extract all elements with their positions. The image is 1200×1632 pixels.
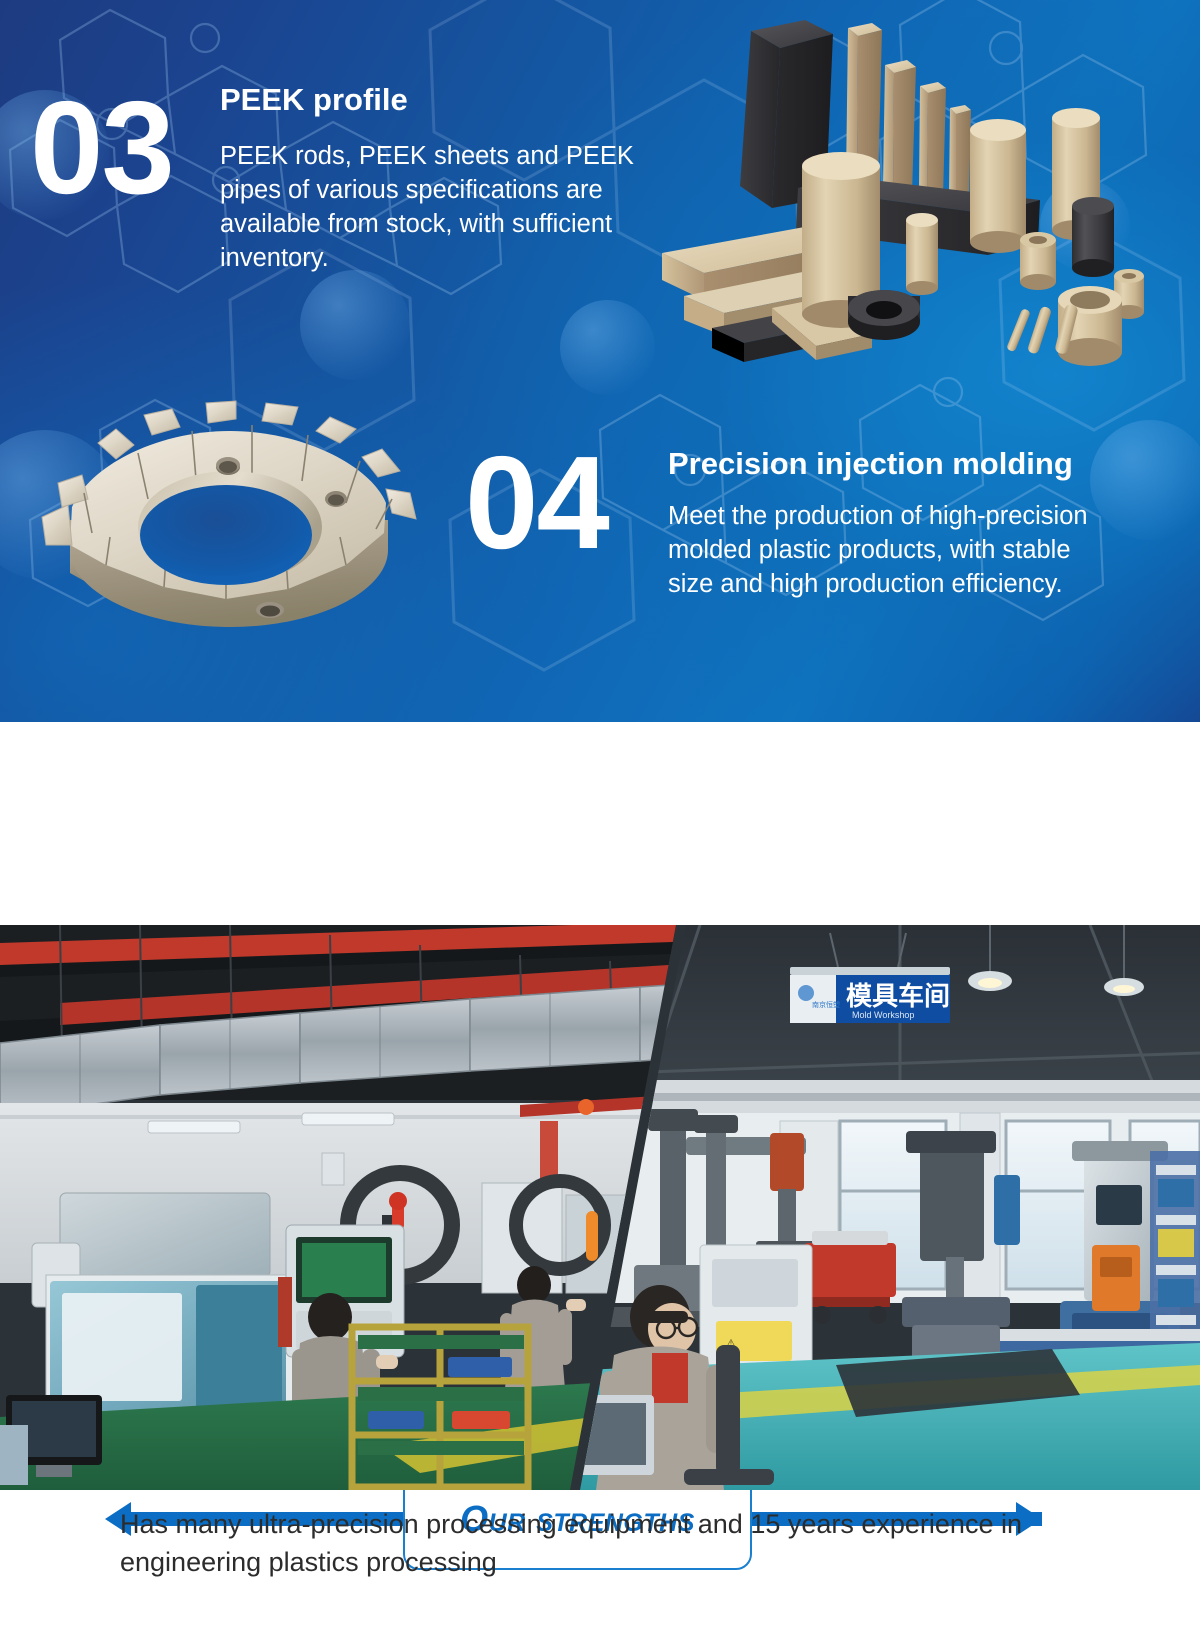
peek-profile-products-photo <box>620 8 1190 368</box>
peek-beige-square-rod-3 <box>919 82 946 197</box>
section-number-03: 03 <box>30 82 173 214</box>
factory-photo-strip: 南京恒塑 模具车间 Mold Workshop <box>0 925 1200 1490</box>
red-tool-cart <box>804 1231 896 1324</box>
peek-beige-square-rod-2 <box>883 60 916 193</box>
peek-tube-black <box>1072 197 1114 277</box>
section-title-04: Precision injection molding <box>668 447 1073 481</box>
peek-gear-ring-component-photo <box>40 395 420 665</box>
bokeh-glow-2 <box>300 270 410 380</box>
section-title-03: PEEK profile <box>220 83 408 117</box>
peek-beige-square-rod-4 <box>949 105 971 201</box>
bottom-caption: Has many ultra-precision processing equi… <box>120 1505 1080 1582</box>
section-body-03: PEEK rods, PEEK sheets and PEEK pipes of… <box>220 140 650 276</box>
section-body-04: Meet the production of high-precision mo… <box>668 500 1098 602</box>
peek-thin-rods <box>1006 303 1079 355</box>
peek-ring-black <box>848 290 920 340</box>
top-blue-panel: 03 PEEK profile PEEK rods, PEEK sheets a… <box>0 0 1200 722</box>
section-number-04: 04 <box>465 437 608 569</box>
cnc-machining-workshop-photo <box>0 925 676 1490</box>
peek-cylinder-medium <box>970 119 1026 253</box>
svg-text:Mold Workshop: Mold Workshop <box>852 1010 914 1020</box>
bokeh-glow-4 <box>1090 420 1200 540</box>
svg-text:南京恒塑: 南京恒塑 <box>812 1000 840 1009</box>
svg-text:模具车间: 模具车间 <box>846 981 950 1011</box>
peek-cylinder-small <box>906 213 938 295</box>
our-strengths-banner: Our strengths <box>0 722 1200 925</box>
peek-bushing-beige <box>1020 232 1056 290</box>
